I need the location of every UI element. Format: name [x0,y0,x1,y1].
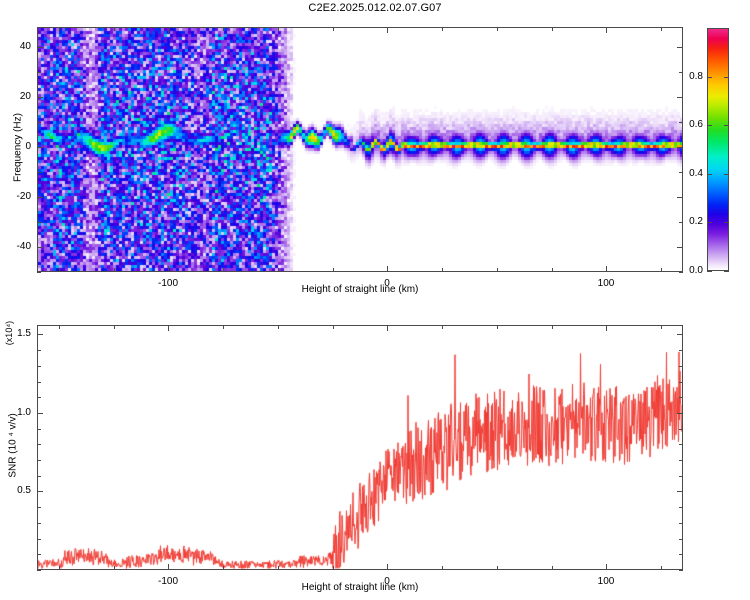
tick-mark [168,266,169,272]
tick-mark [37,147,43,148]
tick-mark [37,247,43,248]
tick-mark [37,554,41,555]
tick-mark [677,47,683,48]
tick-mark [168,325,169,331]
tick-mark [114,268,115,272]
tick-mark [37,397,41,398]
tick-mark [679,382,683,383]
tick-mark [661,27,662,31]
colorbar-tick-label: 0.6 [675,119,703,130]
tick-mark [679,460,683,461]
tick-mark [37,382,41,383]
tick-mark [333,566,334,570]
tick-mark [497,325,498,329]
tick-mark [661,268,662,272]
snr-yaxis-label: SNR (10 ⁴ v/v) [8,386,19,506]
tick-mark [679,397,683,398]
tick-mark [37,172,41,173]
tick-mark [679,570,683,571]
tick-mark [114,566,115,570]
tick-mark [168,27,169,33]
colorbar-tick-label: 0.8 [675,71,703,82]
tick-mark [387,564,388,570]
tick-mark [606,266,607,272]
tick-mark [442,27,443,31]
spectrogram-xaxis-label: Height of straight line (km) [0,284,720,295]
tick-mark [679,444,683,445]
tick-mark [37,97,43,98]
tick-mark [37,491,43,492]
tick-mark [661,325,662,329]
tick-mark [661,566,662,570]
tick-mark [114,325,115,329]
tick-mark [278,325,279,329]
tick-mark [37,539,41,540]
colorbar-gradient[interactable] [707,28,729,271]
tick-mark [679,507,683,508]
tick-mark [37,460,41,461]
colorbar-tick-mark [724,77,729,78]
tick-mark [497,268,498,272]
tick-mark [442,325,443,329]
colorbar-tick-mark [724,125,729,126]
colorbar-tick-mark [724,174,729,175]
tick-mark [679,429,683,430]
snr-xaxis-label: Height of straight line (km) [0,582,720,593]
tick-mark [497,27,498,31]
y-tick-label: -40 [3,241,31,252]
tick-mark [677,147,683,148]
snr-line-trace [38,326,682,569]
tick-mark [37,222,41,223]
tick-mark [37,476,41,477]
tick-mark [278,268,279,272]
tick-mark [37,366,41,367]
tick-mark [37,197,43,198]
tick-mark [278,27,279,31]
tick-mark [679,523,683,524]
tick-mark [223,325,224,329]
tick-mark [37,47,43,48]
spectrogram-image [38,28,682,271]
tick-mark [552,566,553,570]
tick-mark [677,97,683,98]
tick-mark [168,564,169,570]
tick-mark [387,27,388,33]
tick-mark [37,350,41,351]
figure-root: C2E2.2025.012.02.07.G07 -1000100-40-2002… [0,0,750,600]
tick-mark [679,366,683,367]
tick-mark [387,266,388,272]
y-tick-label: 40 [3,41,31,52]
colorbar-tick-label: 0.4 [675,168,703,179]
snr-plot-area[interactable] [37,325,683,570]
tick-mark [679,539,683,540]
tick-mark [37,334,43,335]
spectrogram-plot-area[interactable] [37,27,683,272]
tick-mark [37,72,41,73]
tick-mark [37,122,41,123]
tick-mark [552,325,553,329]
spectrogram-yaxis-label: Frequency (Hz) [13,88,24,208]
tick-mark [37,570,41,571]
tick-mark [679,350,683,351]
tick-mark [677,197,683,198]
colorbar-tick-mark [707,125,712,126]
colorbar-tick-label: 0.0 [675,265,703,276]
tick-mark [442,566,443,570]
colorbar-tick-mark [724,271,729,272]
tick-mark [278,566,279,570]
colorbar-tick-mark [707,174,712,175]
tick-mark [223,27,224,31]
tick-mark [223,268,224,272]
page-title: C2E2.2025.012.02.07.G07 [0,2,750,14]
tick-mark [37,429,41,430]
tick-mark [606,27,607,33]
tick-mark [223,566,224,570]
tick-mark [333,325,334,329]
tick-mark [552,268,553,272]
colorbar-tick-mark [707,222,712,223]
tick-mark [37,507,41,508]
tick-mark [59,268,60,272]
tick-mark [606,564,607,570]
colorbar-tick-mark [724,222,729,223]
tick-mark [677,334,683,335]
tick-mark [37,444,41,445]
tick-mark [37,413,43,414]
colorbar-tick-mark [707,77,712,78]
tick-mark [677,491,683,492]
tick-mark [677,247,683,248]
tick-mark [37,272,41,273]
colorbar-tick-label: 0.2 [675,216,703,227]
tick-mark [387,325,388,331]
tick-mark [552,27,553,31]
tick-mark [442,268,443,272]
tick-mark [59,566,60,570]
colorbar-tick-mark [707,271,712,272]
snr-exponent-label: (x10⁴) [4,313,14,353]
tick-mark [59,325,60,329]
tick-mark [679,476,683,477]
tick-mark [37,523,41,524]
tick-mark [497,566,498,570]
tick-mark [677,413,683,414]
tick-mark [59,27,60,31]
tick-mark [333,268,334,272]
tick-mark [333,27,334,31]
tick-mark [679,554,683,555]
tick-mark [606,325,607,331]
tick-mark [114,27,115,31]
